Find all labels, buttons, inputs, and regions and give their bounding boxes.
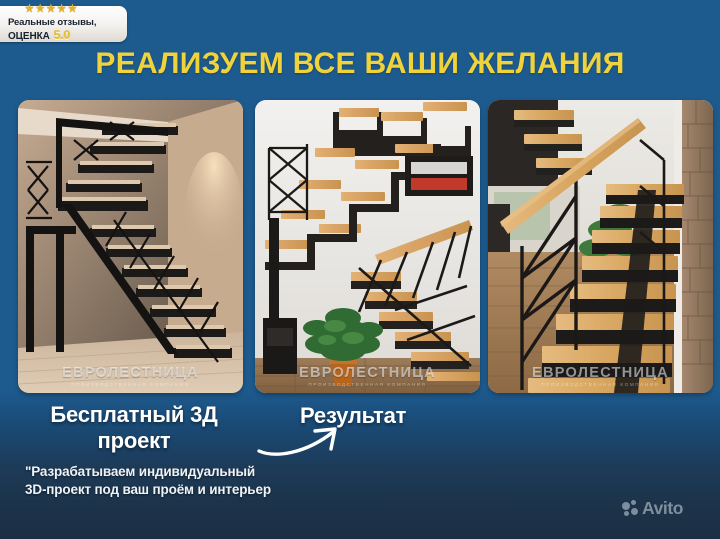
quote-line2: 3D-проект под ваш проём и интерьер	[25, 482, 271, 497]
curved-arrow-icon	[255, 424, 355, 458]
avito-watermark: Avito	[622, 500, 683, 517]
caption-free-3d-project: Бесплатный 3Д проект	[28, 402, 240, 454]
service-description: "Разрабатываем индивидуальный 3D-проект …	[25, 463, 271, 499]
badge-score-value: 5.0	[54, 28, 70, 42]
photo-result-wooden-steps[interactable]: ЕВРОЛЕСТНИЦА ПРОИЗВОДСТВЕННАЯ КОМПАНИЯ	[488, 100, 713, 393]
page-title: РЕАЛИЗУЕМ ВСЕ ВАШИ ЖЕЛАНИЯ	[0, 47, 720, 81]
caption-left-line2: проект	[98, 428, 171, 453]
badge-reviews-label: Реальные отзывы,	[8, 17, 96, 28]
caption-result: Результат	[300, 403, 406, 429]
badge-score-label: ОЦЕНКА	[8, 31, 50, 42]
five-stars-icon: ★★★★★	[24, 2, 78, 14]
photo-3d-project-render[interactable]: ЕВРОЛЕСТНИЦА ПРОИЗВОДСТВЕННАЯ КОМПАНИЯ	[18, 100, 243, 393]
quote-line1: "Разрабатываем индивидуальный	[25, 464, 255, 479]
stair-render-illustration	[18, 100, 243, 393]
advertisement-banner: ★★★★★ Реальные отзывы, ОЦЕНКА5.0 РЕАЛИЗУ…	[0, 0, 720, 539]
photo-result-modular-stairs[interactable]: ЕВРОЛЕСТНИЦА ПРОИЗВОДСТВЕННАЯ КОМПАНИЯ	[255, 100, 480, 393]
review-rating-badge: ★★★★★ Реальные отзывы, ОЦЕНКА5.0	[0, 6, 127, 42]
badge-score-row: ОЦЕНКА5.0	[8, 28, 70, 42]
modular-stairs-photo	[255, 100, 480, 393]
avito-logo-icon	[622, 500, 639, 517]
wooden-steps-photo	[488, 100, 713, 393]
photo-gallery: ЕВРОЛЕСТНИЦА ПРОИЗВОДСТВЕННАЯ КОМПАНИЯ	[0, 100, 720, 395]
avito-label: Avito	[642, 500, 683, 517]
caption-left-line1: Бесплатный 3Д	[50, 402, 217, 427]
